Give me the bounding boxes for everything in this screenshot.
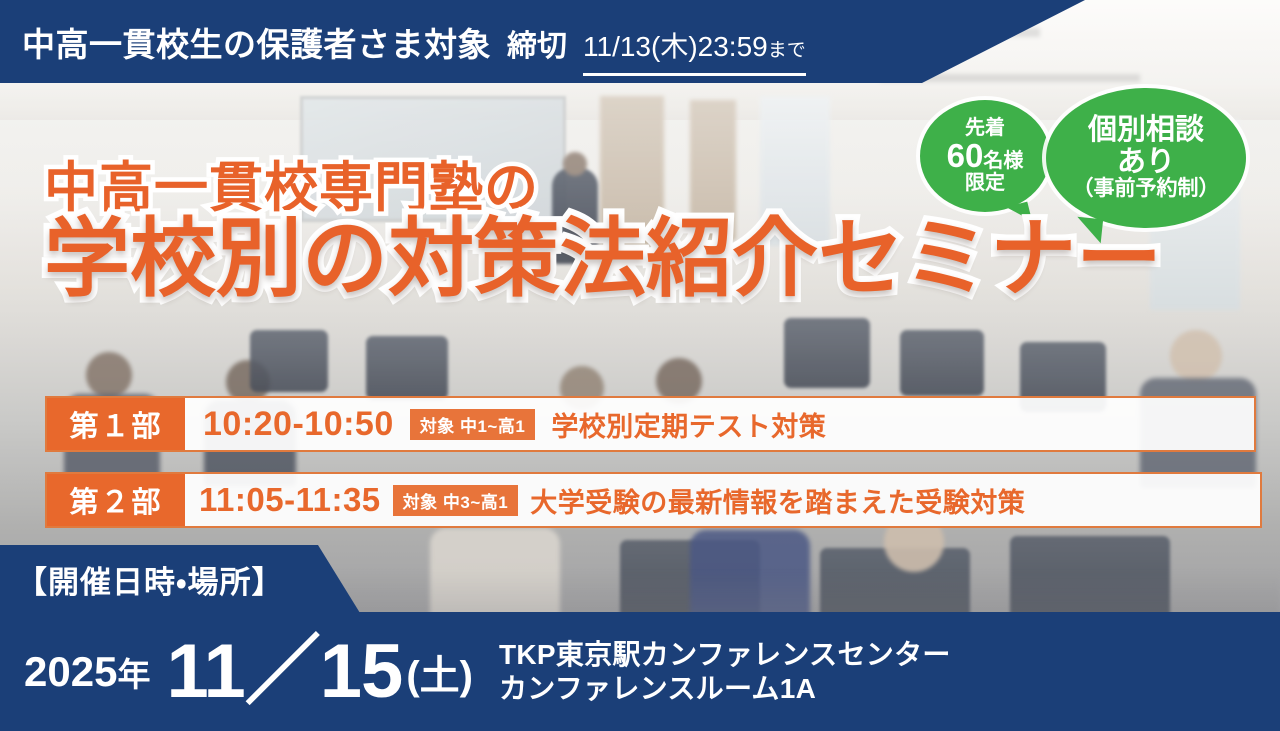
- info-band: 2025年 11／15 (土) TKP東京駅カンファレンスセンター カンファレン…: [0, 612, 1280, 731]
- session-row: 第２部 11:05-11:35 対象 中3~高1 大学受験の最新情報を踏まえた受…: [45, 472, 1262, 528]
- headline-block: 中高一貫校専門塾の 学校別の対策法紹介セミナー: [44, 160, 1162, 306]
- event-year: 2025年: [24, 648, 150, 696]
- badge-capacity-line1: 先着: [965, 118, 1005, 139]
- deadline-underline: [583, 73, 806, 76]
- seminar-banner: 中高一貫校生の保護者さま対象 締切 11/13(木)23:59まで 先着 60名…: [0, 0, 1280, 731]
- header-bar: 中高一貫校生の保護者さま対象 締切 11/13(木)23:59まで: [0, 0, 1085, 83]
- session-target-badge: 対象 中3~高1: [393, 485, 519, 516]
- session-part-label: 第１部: [47, 398, 185, 450]
- session-part-label: 第２部: [47, 474, 185, 526]
- event-day-of-week: (土): [406, 643, 473, 701]
- session-row: 第１部 10:20-10:50 対象 中1~高1 学校別定期テスト対策: [45, 396, 1256, 452]
- session-topic: 大学受験の最新情報を踏まえた受験対策: [530, 481, 1025, 520]
- info-tab-label: 【開催日時・場所】: [0, 557, 284, 602]
- session-time: 10:20-10:50: [203, 405, 394, 444]
- session-details: 11:05-11:35 対象 中3~高1 大学受験の最新情報を踏まえた受験対策: [185, 474, 1260, 526]
- event-date: 11／15: [166, 634, 402, 710]
- venue-line-2: カンファレンスルーム1A: [499, 672, 951, 706]
- deadline-group: 11/13(木)23:59まで: [583, 25, 806, 65]
- deadline-value: 11/13(木)23:59: [583, 31, 768, 62]
- venue-line-1: TKP東京駅カンファレンスセンター: [499, 638, 951, 672]
- session-target-badge: 対象 中1~高1: [410, 409, 536, 440]
- info-row: 2025年 11／15 (土) TKP東京駅カンファレンスセンター カンファレン…: [0, 634, 1280, 710]
- deadline-suffix: まで: [768, 40, 806, 61]
- header-content: 中高一貫校生の保護者さま対象 締切 11/13(木)23:59まで: [0, 18, 806, 66]
- session-topic: 学校別定期テスト対策: [551, 405, 826, 444]
- deadline-label: 締切: [507, 21, 567, 65]
- venue-block: TKP東京駅カンファレンスセンター カンファレンスルーム1A: [499, 638, 951, 705]
- badge-consult-line1: 個別相談: [1088, 115, 1204, 146]
- headline-title: 学校別の対策法紹介セミナー: [44, 213, 1162, 306]
- year-unit: 年: [117, 656, 150, 693]
- info-tab: 【開催日時・場所】: [0, 545, 360, 613]
- header-lead-text: 中高一貫校生の保護者さま対象: [22, 18, 491, 66]
- headline-kicker: 中高一貫校専門塾の: [44, 160, 1162, 217]
- session-time: 11:05-11:35: [199, 481, 381, 519]
- session-details: 10:20-10:50 対象 中1~高1 学校別定期テスト対策: [185, 398, 1254, 450]
